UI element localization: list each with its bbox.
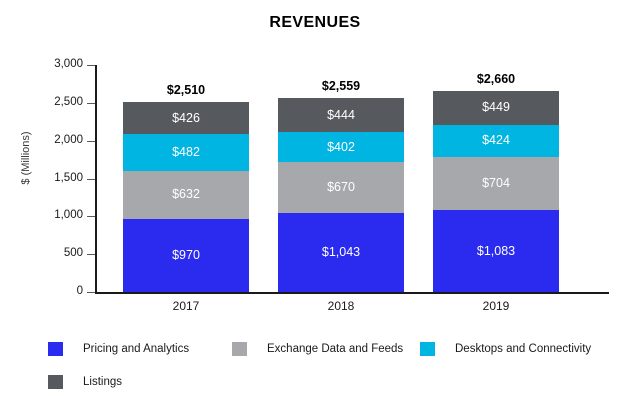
y-axis-tick: [87, 216, 95, 217]
y-axis-tick-label: 2,000: [23, 135, 83, 147]
bar-segment-value-label: $424: [482, 134, 510, 147]
y-axis-tick-label: 1,500: [23, 173, 83, 185]
legend-item-label: Desktops and Connectivity: [455, 343, 591, 355]
legend-item-label: Listings: [83, 376, 122, 388]
bar-segment-value-label: $449: [482, 101, 510, 114]
bar-segment[interactable]: $1,083: [433, 210, 559, 292]
bar-segment-value-label: $1,083: [477, 245, 515, 258]
x-axis-category-label: 2017: [123, 299, 249, 313]
bar-segment-value-label: $426: [172, 112, 200, 125]
bar-segment[interactable]: $482: [123, 134, 249, 170]
bar-segment[interactable]: $424: [433, 125, 559, 157]
bar-segment[interactable]: $632: [123, 171, 249, 219]
legend-color-swatch-icon: [48, 342, 63, 356]
bar-segment[interactable]: $444: [278, 98, 404, 132]
bar-segment[interactable]: $1,043: [278, 213, 404, 292]
y-axis-tick: [87, 292, 95, 293]
legend-color-swatch-icon: [48, 375, 63, 389]
bar-segment-value-label: $402: [327, 141, 355, 154]
legend-item[interactable]: Desktops and Connectivity: [420, 342, 591, 356]
y-axis-tick-label: 3,000: [23, 59, 83, 71]
y-axis-tick-label: 0: [23, 286, 83, 298]
y-axis-tick-label: 500: [23, 248, 83, 260]
legend-color-swatch-icon: [232, 342, 247, 356]
y-axis-tick: [87, 179, 95, 180]
y-axis-tick: [87, 65, 95, 66]
y-axis-tick-label: 1,000: [23, 210, 83, 222]
bar-total-label: $2,660: [433, 73, 559, 86]
bar-segment[interactable]: $402: [278, 132, 404, 162]
legend-item-label: Exchange Data and Feeds: [267, 343, 403, 355]
bar-segment[interactable]: $426: [123, 102, 249, 134]
legend-item[interactable]: Exchange Data and Feeds: [232, 342, 403, 356]
legend-item[interactable]: Pricing and Analytics: [48, 342, 189, 356]
bar-segment[interactable]: $704: [433, 157, 559, 210]
y-axis-tick-label: 2,500: [23, 97, 83, 109]
bar-segment[interactable]: $970: [123, 219, 249, 292]
bar-group[interactable]: $1,083$704$424$449$2,660: [433, 0, 559, 300]
bar-segment-value-label: $704: [482, 177, 510, 190]
legend-item-label: Pricing and Analytics: [83, 343, 189, 355]
y-axis-tick: [87, 254, 95, 255]
bar-segment-value-label: $482: [172, 146, 200, 159]
bar-segment-value-label: $632: [172, 188, 200, 201]
y-axis-tick: [87, 141, 95, 142]
legend-color-swatch-icon: [420, 342, 435, 356]
chart-legend: Pricing and AnalyticsExchange Data and F…: [0, 336, 630, 406]
bar-segment-value-label: $670: [327, 181, 355, 194]
legend-item[interactable]: Listings: [48, 375, 122, 389]
bar-group[interactable]: $970$632$482$426$2,510: [123, 0, 249, 300]
bar-total-label: $2,559: [278, 80, 404, 93]
bar-total-label: $2,510: [123, 84, 249, 97]
bar-segment[interactable]: $449: [433, 91, 559, 125]
bar-segment[interactable]: $670: [278, 162, 404, 213]
x-axis-category-label: 2018: [278, 299, 404, 313]
y-axis-title: $ (Millions): [20, 98, 32, 218]
y-axis-line: [95, 65, 97, 293]
bar-segment-value-label: $1,043: [322, 246, 360, 259]
bar-segment-value-label: $444: [327, 109, 355, 122]
bar-segment-value-label: $970: [172, 249, 200, 262]
x-axis-category-label: 2019: [433, 299, 559, 313]
bar-group[interactable]: $1,043$670$402$444$2,559: [278, 0, 404, 300]
y-axis-tick: [87, 103, 95, 104]
revenues-stacked-bar-chart: REVENUES $ (Millions) 3,0002,5002,0001,5…: [0, 0, 630, 416]
